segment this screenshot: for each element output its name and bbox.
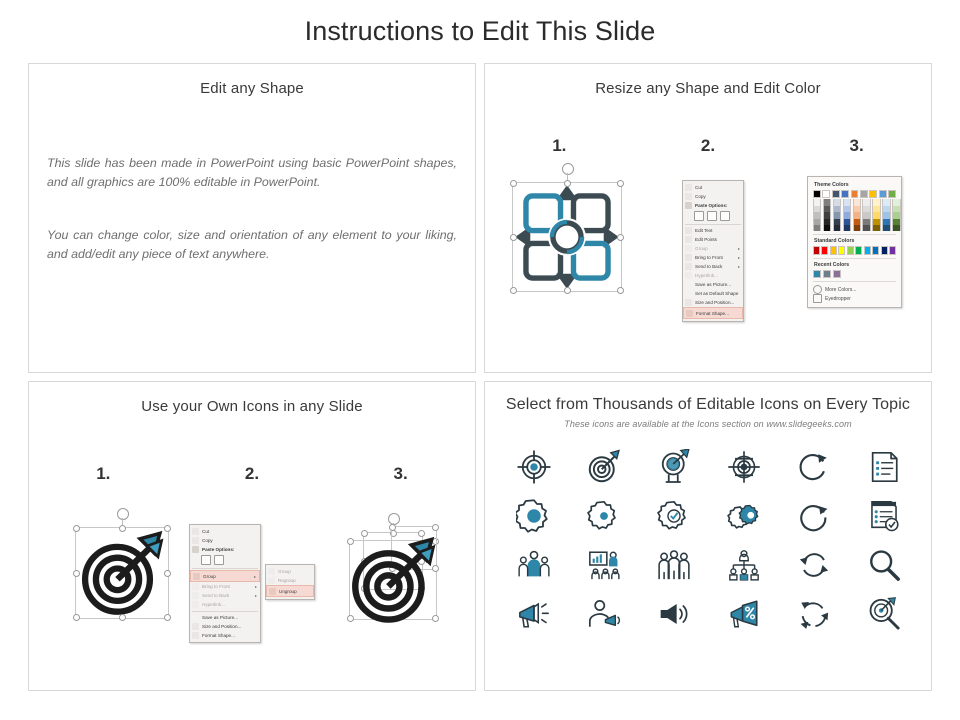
- resize-handle-top-center[interactable]: [119, 525, 126, 532]
- edit-shape-paragraph-2: You can change color, size and orientati…: [47, 226, 457, 264]
- icon-ungrouped-group[interactable]: [339, 522, 449, 627]
- tint-column-4[interactable]: [843, 199, 851, 231]
- context-menu-item-size-and-position[interactable]: Size and Position...: [190, 622, 260, 631]
- tint-column-5[interactable]: [853, 199, 861, 231]
- panel-title-resize-shape: Resize any Shape and Edit Color: [485, 80, 931, 97]
- bring-front-icon: [685, 254, 692, 261]
- no-icon: [192, 614, 199, 621]
- edit-text-icon: [685, 227, 692, 234]
- megaphone-icon[interactable]: [514, 594, 554, 634]
- resize-step-number-3: 3.: [782, 136, 931, 156]
- scissors-icon: [685, 184, 692, 191]
- menu-divider: [685, 224, 741, 225]
- person-megaphone-icon[interactable]: [584, 594, 624, 634]
- checklist-document-icon[interactable]: [864, 447, 904, 487]
- resize-handle-top-left[interactable]: [389, 524, 396, 531]
- edit-shape-paragraph-1: This slide has been made in PowerPoint u…: [47, 154, 457, 192]
- magnifier-target-icon[interactable]: [864, 594, 904, 634]
- resize-handle-top-right[interactable]: [617, 180, 624, 187]
- context-menu-item-save-as-picture[interactable]: Save as Picture...: [683, 280, 743, 289]
- paste-option-buttons[interactable]: [190, 554, 260, 566]
- context-menu-item-bring-to-front[interactable]: Bring to Front ▸: [683, 253, 743, 262]
- paste-picture-icon[interactable]: [707, 211, 717, 221]
- tint-column-9[interactable]: [892, 199, 900, 231]
- team-group-icon[interactable]: [514, 545, 554, 585]
- paste-option-buttons[interactable]: [683, 210, 743, 222]
- tint-column-3[interactable]: [833, 199, 841, 231]
- document-approved-icon[interactable]: [864, 496, 904, 536]
- double-gear-icon[interactable]: [724, 496, 764, 536]
- tint-column-1[interactable]: [813, 199, 821, 231]
- panel-resize-shape: Resize any Shape and Edit Color 1. 2. 3.: [484, 63, 932, 373]
- refresh-clockwise-icon[interactable]: [794, 447, 834, 487]
- paste-keep-formatting-icon[interactable]: [694, 211, 704, 221]
- org-chart-icon[interactable]: [724, 545, 764, 585]
- panel-title-own-icons: Use your Own Icons in any Slide: [29, 398, 475, 415]
- page-title: Instructions to Edit This Slide: [0, 16, 960, 47]
- presentation-people-icon[interactable]: [584, 545, 624, 585]
- swatch-theme-3[interactable]: [832, 190, 840, 198]
- crosshair-scope-icon[interactable]: [724, 447, 764, 487]
- resize-handle-middle-right[interactable]: [617, 234, 624, 241]
- context-menu-item-copy[interactable]: Copy: [683, 192, 743, 201]
- icons-step-number-2: 2.: [178, 464, 327, 484]
- submenu-item-regroup[interactable]: Regroup: [266, 576, 314, 585]
- icons-step-number-3: 3.: [326, 464, 475, 484]
- tint-column-2[interactable]: [823, 199, 831, 231]
- paste-text-only-icon[interactable]: [720, 211, 730, 221]
- target-stand-icon[interactable]: [654, 447, 694, 487]
- scissors-icon: [192, 528, 199, 535]
- theme-tints-grid[interactable]: [813, 199, 896, 231]
- group-icon: [193, 573, 200, 580]
- submenu-arrow-icon: ▸: [738, 246, 740, 251]
- regroup-icon: [268, 577, 275, 584]
- no-icon: [685, 290, 692, 297]
- shape-context-menu[interactable]: Cut Copy Paste Options: Edit Text: [682, 180, 744, 322]
- context-menu-item-group[interactable]: Group ▸: [683, 244, 743, 253]
- icon-context-menu[interactable]: Cut Copy Paste Options: Group ▸: [189, 524, 261, 643]
- group-icon: [685, 245, 692, 252]
- resize-handle-top-left[interactable]: [73, 525, 80, 532]
- context-menu-item-edit-points[interactable]: Edit Points: [683, 235, 743, 244]
- recent-colors-swatch-row[interactable]: [813, 270, 896, 278]
- resize-handle-top-right[interactable]: [164, 525, 171, 532]
- clipboard-icon: [685, 202, 692, 209]
- copy-icon: [192, 537, 199, 544]
- context-menu-item-hyperlink[interactable]: Hyperlink...: [190, 600, 260, 609]
- resize-handle-bottom-left[interactable]: [510, 287, 517, 294]
- icon-selection-frame-grouped[interactable]: [75, 527, 169, 619]
- swatch-theme-6[interactable]: [860, 190, 868, 198]
- swatch-theme-7[interactable]: [869, 190, 877, 198]
- swatch-theme-2[interactable]: [822, 190, 830, 198]
- swatch-std-2[interactable]: [821, 246, 828, 254]
- four-quadrant-cycle-shape-icon: [513, 183, 621, 291]
- tint-column-8[interactable]: [882, 199, 890, 231]
- standard-colors-swatch-row[interactable]: [813, 246, 896, 254]
- context-menu-item-send-to-back[interactable]: Send to Back ▸: [190, 591, 260, 600]
- context-menu-item-cut[interactable]: Cut: [683, 183, 743, 192]
- context-menu-item-set-as-default-shape[interactable]: Set as Default Shape: [683, 289, 743, 298]
- dartboard-arrow-icon-ungrouped: [345, 534, 441, 626]
- swatch-std-3[interactable]: [830, 246, 837, 254]
- loudspeaker-icon[interactable]: [654, 594, 694, 634]
- context-menu-item-copy[interactable]: Copy: [190, 536, 260, 545]
- theme-colors-label: Theme Colors: [814, 182, 896, 188]
- context-menu-item-send-to-back[interactable]: Send to Back ▸: [683, 262, 743, 271]
- magnifier-icon[interactable]: [864, 545, 904, 585]
- eyedropper-button[interactable]: Eyedropper: [813, 294, 896, 303]
- gear-dot-icon[interactable]: [584, 496, 624, 536]
- rotate-handle-icon[interactable]: [388, 513, 400, 525]
- bring-front-icon: [192, 583, 199, 590]
- panel-subtitle-icon-library: These icons are available at the Icons s…: [485, 419, 931, 429]
- context-menu-item-format-shape[interactable]: Format Shape...: [190, 631, 260, 640]
- panel-icon-library: Select from Thousands of Editable Icons …: [484, 381, 932, 691]
- submenu-arrow-icon: ▸: [738, 264, 740, 269]
- more-colors-icon: [813, 285, 822, 294]
- context-menu-item-paste-options[interactable]: Paste Options:: [683, 201, 743, 210]
- panel-title-icon-library: Select from Thousands of Editable Icons …: [485, 396, 931, 414]
- panel-own-icons: Use your Own Icons in any Slide 1. 2. 3.: [28, 381, 476, 691]
- resize-handle-middle-left[interactable]: [73, 570, 80, 577]
- slide-canvas: Instructions to Edit This Slide Edit any…: [0, 0, 960, 720]
- size-position-icon: [192, 623, 199, 630]
- recent-colors-label: Recent Colors: [814, 262, 896, 268]
- resize-handle-top-right[interactable]: [432, 524, 439, 531]
- swatch-theme-5[interactable]: [851, 190, 859, 198]
- panel-title-edit-shape: Edit any Shape: [29, 80, 475, 97]
- send-back-icon: [685, 263, 692, 270]
- resize-handle-bottom-center[interactable]: [119, 614, 126, 621]
- format-shape-icon: [192, 632, 199, 639]
- color-picker-panel[interactable]: Theme Colors: [807, 176, 902, 308]
- context-menu-item-hyperlink[interactable]: Hyperlink...: [683, 271, 743, 280]
- context-menu-item-bring-to-front[interactable]: Bring to Front ▸: [190, 582, 260, 591]
- submenu-item-group[interactable]: Group: [266, 567, 314, 576]
- picker-divider: [813, 234, 896, 235]
- shape-selection-frame[interactable]: [512, 182, 622, 292]
- hyperlink-icon: [192, 601, 199, 608]
- dartboard-arrow-icon: [76, 528, 168, 618]
- submenu-item-ungroup[interactable]: Ungroup: [266, 585, 314, 597]
- swatch-theme-4[interactable]: [841, 190, 849, 198]
- swatch-std-5[interactable]: [847, 246, 854, 254]
- context-menu-item-size-and-position[interactable]: Size and Position...: [683, 298, 743, 307]
- submenu-arrow-icon: ▸: [254, 574, 256, 579]
- resize-step-number-2: 2.: [634, 136, 783, 156]
- resize-handle-top-left[interactable]: [510, 180, 517, 187]
- no-icon: [685, 281, 692, 288]
- swatch-recent-3[interactable]: [833, 270, 841, 278]
- picker-divider-2: [813, 258, 896, 259]
- rotate-handle-icon[interactable]: [117, 508, 129, 520]
- tint-column-6[interactable]: [862, 199, 870, 231]
- format-shape-icon: [686, 310, 693, 317]
- context-menu-item-format-shape[interactable]: Format Shape...: [683, 307, 743, 319]
- resize-handle-middle-left[interactable]: [510, 234, 517, 241]
- picker-divider-3: [813, 281, 896, 282]
- resize-handle-middle-right[interactable]: [164, 570, 171, 577]
- swatch-std-10[interactable]: [889, 246, 896, 254]
- megaphone-percent-icon[interactable]: [724, 594, 764, 634]
- swatch-std-1[interactable]: [813, 246, 820, 254]
- sync-arrows-icon[interactable]: [794, 545, 834, 585]
- resize-handle-bottom-left[interactable]: [73, 614, 80, 621]
- swatch-std-7[interactable]: [864, 246, 871, 254]
- hyperlink-icon: [685, 272, 692, 279]
- resize-step-number-1: 1.: [485, 136, 634, 156]
- submenu-arrow-icon: ▸: [738, 255, 740, 260]
- reload-circle-icon[interactable]: [794, 496, 834, 536]
- swatch-std-6[interactable]: [855, 246, 862, 254]
- submenu-arrow-icon: ▸: [255, 584, 257, 589]
- context-menu-item-paste-options[interactable]: Paste Options:: [190, 545, 260, 554]
- menu-divider-2: [192, 611, 258, 612]
- people-crowd-icon[interactable]: [654, 545, 694, 585]
- group-submenu[interactable]: Group Regroup Ungroup: [265, 564, 315, 600]
- size-position-icon: [685, 299, 692, 306]
- standard-colors-label: Standard Colors: [814, 238, 896, 244]
- submenu-arrow-icon: ▸: [255, 593, 257, 598]
- more-colors-button[interactable]: More Colors...: [813, 285, 896, 294]
- context-menu-item-cut[interactable]: Cut: [190, 527, 260, 536]
- swatch-std-9[interactable]: [881, 246, 888, 254]
- gear-check-icon[interactable]: [654, 496, 694, 536]
- dartboard-arrow-icon[interactable]: [584, 447, 624, 487]
- swatch-recent-1[interactable]: [813, 270, 821, 278]
- icon-library-grid: [499, 442, 919, 638]
- swatch-recent-2[interactable]: [823, 270, 831, 278]
- swatch-theme-9[interactable]: [888, 190, 896, 198]
- eyedropper-icon: [813, 294, 822, 303]
- swatch-std-8[interactable]: [872, 246, 879, 254]
- resize-handle-bottom-right[interactable]: [164, 614, 171, 621]
- context-menu-item-group[interactable]: Group ▸: [190, 570, 260, 582]
- context-menu-item-save-as-picture[interactable]: Save as Picture...: [190, 613, 260, 622]
- swatch-theme-8[interactable]: [879, 190, 887, 198]
- theme-colors-swatch-row[interactable]: [813, 190, 896, 198]
- target-crosshair-icon[interactable]: [514, 447, 554, 487]
- rotate-handle-icon[interactable]: [562, 163, 574, 175]
- paste-keep-formatting-icon[interactable]: [201, 555, 211, 565]
- resize-handle-bottom-center[interactable]: [564, 287, 571, 294]
- ungroup-icon: [269, 588, 276, 595]
- gear-solid-icon[interactable]: [514, 496, 554, 536]
- menu-divider: [192, 568, 258, 569]
- clipboard-icon: [192, 546, 199, 553]
- context-menu-item-edit-text[interactable]: Edit Text: [683, 226, 743, 235]
- icons-step-number-1: 1.: [29, 464, 178, 484]
- swatch-theme-1[interactable]: [813, 190, 821, 198]
- tint-column-7[interactable]: [872, 199, 880, 231]
- panel-edit-any-shape: Edit any Shape This slide has been made …: [28, 63, 476, 373]
- resize-handle-bottom-right[interactable]: [617, 287, 624, 294]
- resize-handle-top-center[interactable]: [564, 180, 571, 187]
- triangle-cycle-icon[interactable]: [794, 594, 834, 634]
- group-icon: [268, 568, 275, 575]
- paste-picture-icon[interactable]: [214, 555, 224, 565]
- swatch-std-4[interactable]: [838, 246, 845, 254]
- edit-points-icon: [685, 236, 692, 243]
- send-back-icon: [192, 592, 199, 599]
- copy-icon: [685, 193, 692, 200]
